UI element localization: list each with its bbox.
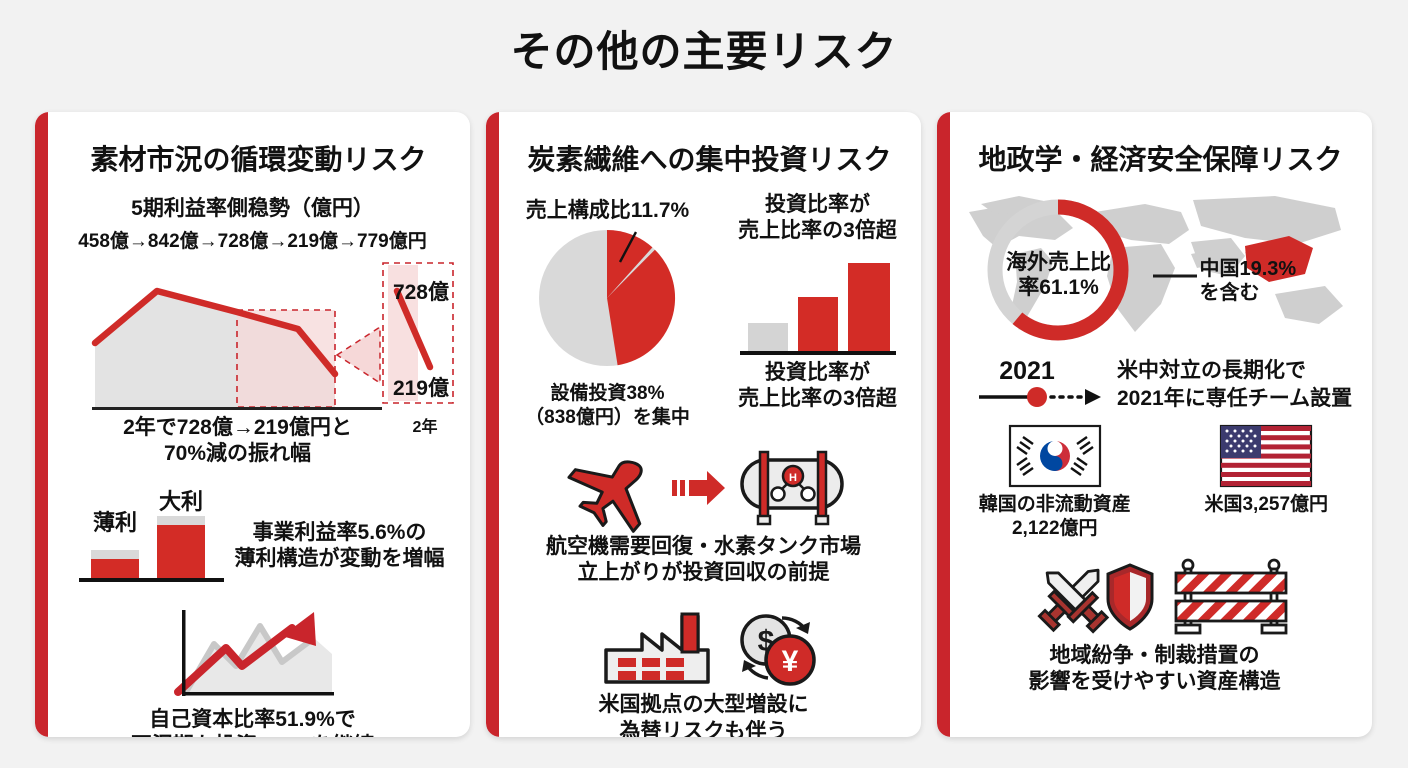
timeline-arrowhead [1085,389,1101,405]
bar-small-cap [91,550,139,559]
korea-asset-line1: 韓国の非流動資産 [979,493,1131,517]
airplane-icon [568,451,664,525]
arrow-head [689,471,725,505]
timeline-marker-dot [1027,387,1047,407]
growth-arrow-chart [164,604,342,699]
pie-top-label: 売上構成比11.7% [526,198,689,224]
ratio-bar-3 [848,263,890,351]
growth-x-axis [182,692,334,696]
conflict-sanction-icons [1018,557,1292,637]
factory-icon [596,608,716,688]
tank-foot-left [758,516,770,524]
factory-currency-note: 米国拠点の大型増設に 為替リスクも伴う [599,692,809,737]
barrier-foot-left [1176,625,1200,633]
korea-asset-cell: 韓国の非流動資産 2,122億円 [955,425,1155,541]
icons-note2-line1: 米国拠点の大型増設に [599,692,809,718]
callout-low-label: 219億 [393,376,449,400]
world-map-donut-block: 海外売上比 率61.1% 中国19.3% を含む [945,182,1365,357]
page-title: その他の主要リスク [0,18,1408,79]
barrier-plank-bottom [1176,601,1286,621]
ratio-bars-block: 投資比率が 売上比率の3倍超 投資比率が 売上比率の3倍超 [715,184,920,430]
china-label-line1: 中国19.3% [1200,257,1360,281]
country-assets-row: 韓国の非流動資産 2,122億円 [937,425,1372,541]
bar-large-cap [157,516,205,525]
ratio-bar-svg [738,251,898,356]
bars-bottom-line2: 売上比率の3倍超 [738,386,897,412]
ratio-bar-2 [798,297,838,351]
equity-note-line2: 不況期も投資+45%を継続 [131,733,374,737]
china-share-label: 中国19.3% を含む [1200,257,1360,306]
card-accent-bar [486,112,499,737]
pie-block: 売上構成比11.7% 設備投資38% （838億円）を集中 [500,184,715,430]
korea-flag-icon [1009,425,1101,487]
trend-note-line1: 2年で728億→219億円と [85,415,390,441]
margin-bar-chart: 薄利 大利 [79,490,229,582]
bar-large-body [157,525,205,578]
icons-note1-line2: 立上がりが投資回収の前提 [578,560,830,586]
factory-window-5 [642,671,660,680]
axis-divider [92,407,382,410]
infographic-root: その他の主要リスク 素材市況の循環変動リスク 5期利益率側稳勢（億円） 458億… [0,0,1408,768]
callout-high-label: 728億 [393,280,449,304]
margin-bar-svg: 薄利 大利 [79,490,229,582]
zoom-connector [337,327,380,383]
molecule-atom-left [771,487,784,500]
aircraft-hydrogen-note: 航空機需要回復・水素タンク市場 立上がりが投資回収の前提 [546,534,861,587]
callout-span-label: 2年 [385,413,465,437]
profit-trend-svg: 728億 219億 [45,255,460,430]
bar-label-large: 大利 [158,489,202,514]
trend-note-line2: 70%減の振れ幅 [85,441,390,467]
tank-foot-right [816,516,828,524]
equity-note-line1: 自己資本比率51.9%で [149,707,356,733]
donut-label-line1: 海外売上比 [985,250,1133,275]
bottom-note-line2: 影響を受けやすい資産構造 [1029,669,1281,695]
trend-note: 2年で728億→219億円と 70%減の振れ幅 [85,415,390,468]
pie-bottom-line1: 設備投資38% [550,382,664,406]
usa-asset-cell: 米国3,257億円 [1166,425,1366,541]
ratio-bar-1 [748,323,788,351]
icons-note2-line2: 為替リスクも伴う [620,719,788,738]
china-label-line2: を含む [1200,281,1360,305]
timeline-svg: 2021 米中対立の長期化で 2021年に専任チーム設置 [957,357,1365,423]
timeline-note-line1: 米中対立の長期化で [1117,358,1306,382]
currency-exchange-icon: $ ¥ [728,608,824,688]
timeline-note-line2: 2021年に専任チーム設置 [1117,386,1352,410]
sales-composition-pie [520,226,695,376]
donut-label-line2: 率61.1% [985,275,1133,300]
arrow-dash-2 [680,480,685,496]
margin-note-line1: 事業利益率5.6%の [253,520,427,546]
factory-window-6 [666,671,684,680]
chart-series-text: 458億→842億→728億→219億→779億円 [78,226,427,253]
shield-icon [1108,565,1152,629]
factory-window-4 [618,671,636,680]
barrier-plank-top [1176,573,1286,593]
factory-currency-icons: $ ¥ [584,608,824,688]
conflict-sanction-note: 地域紛争・制裁措置の 影響を受けやすい資産構造 [1029,643,1281,696]
crossed-swords-icon [1030,557,1154,637]
profit-trend-chart: 728億 219億 2年で728億→219億円と 70%減の振れ幅 2年 [45,255,460,430]
bars-bottom-line1: 投資比率が [765,360,870,386]
factory-window-2 [642,658,660,667]
card-title: 地政学・経済安全保障リスク [937,138,1372,178]
card-geopolitical-risk: 地政学・経済安全保障リスク [937,112,1372,737]
chart-heading: 5期利益率側稳勢（億円） [131,192,374,222]
yen-symbol: ¥ [781,645,798,678]
bars-top-line1: 投資比率が [765,192,870,218]
margin-note: 事業利益率5.6%の 薄利構造が変動を増幅 [235,520,445,573]
bottom-note-line1: 地域紛争・制裁措置の [1050,643,1260,669]
bar-label-small: 薄利 [92,510,136,535]
korea-asset-line2: 2,122億円 [1012,517,1098,541]
timeline-block: 2021 米中対立の長期化で 2021年に専任チーム設置 [945,357,1365,423]
ratio-bar-baseline [740,351,896,355]
equity-note: 自己資本比率51.9%で 不況期も投資+45%を継続 [131,707,374,737]
timeline-year-label: 2021 [999,357,1055,385]
margin-bars-block: 薄利 大利 事業利益率5.6%の 薄利構造が変動を増幅 [35,490,470,582]
icons-note1-line1: 航空機需要回復・水素タンク市場 [546,534,861,560]
pie-bottom-line2: （838億円）を集中 [525,406,690,430]
usa-flag-icon [1220,425,1312,487]
investment-ratio-bar-chart [738,251,898,356]
risk-cards-container: 素材市況の循環変動リスク 5期利益率側稳勢（億円） 458億→842億→728億… [35,112,1373,737]
growth-y-axis [182,610,186,696]
tank-band-left [760,452,768,518]
hydrogen-tank-icon: H [734,448,852,528]
barrier-foot-right [1262,625,1286,633]
arrow-right-icon [670,466,728,510]
tank-band-right [818,452,826,518]
bars-top-line2: 売上比率の3倍超 [738,218,897,244]
factory-window-3 [666,658,684,667]
card-title: 素材市況の循環変動リスク [35,138,470,178]
panel2-top-row: 売上構成比11.7% 設備投資38% （838億円）を集中 [486,184,921,430]
arrow-dash-1 [672,480,677,496]
aircraft-hydrogen-icons: H [556,448,852,528]
card-material-cycle-risk: 素材市況の循環変動リスク 5期利益率側稳勢（億円） 458億→842億→728億… [35,112,470,737]
road-barrier-icon [1170,557,1292,637]
factory-chimney [682,614,698,652]
molecule-h-label: H [789,472,797,484]
card-title: 炭素繊維への集中投資リスク [486,138,921,178]
molecule-atom-right [801,487,814,500]
bar-baseline [79,578,224,582]
airplane-shape [559,436,668,543]
margin-note-line2: 薄利構造が変動を増幅 [235,546,445,572]
factory-window-1 [618,658,636,667]
donut-center-label: 海外売上比 率61.1% [985,250,1133,300]
growth-arrow-svg [164,604,342,699]
bar-small-body [91,559,139,578]
usa-asset-line1: 米国3,257億円 [1204,493,1328,517]
card-carbon-fiber-risk: 炭素繊維への集中投資リスク 売上構成比11.7% 設備 [486,112,921,737]
